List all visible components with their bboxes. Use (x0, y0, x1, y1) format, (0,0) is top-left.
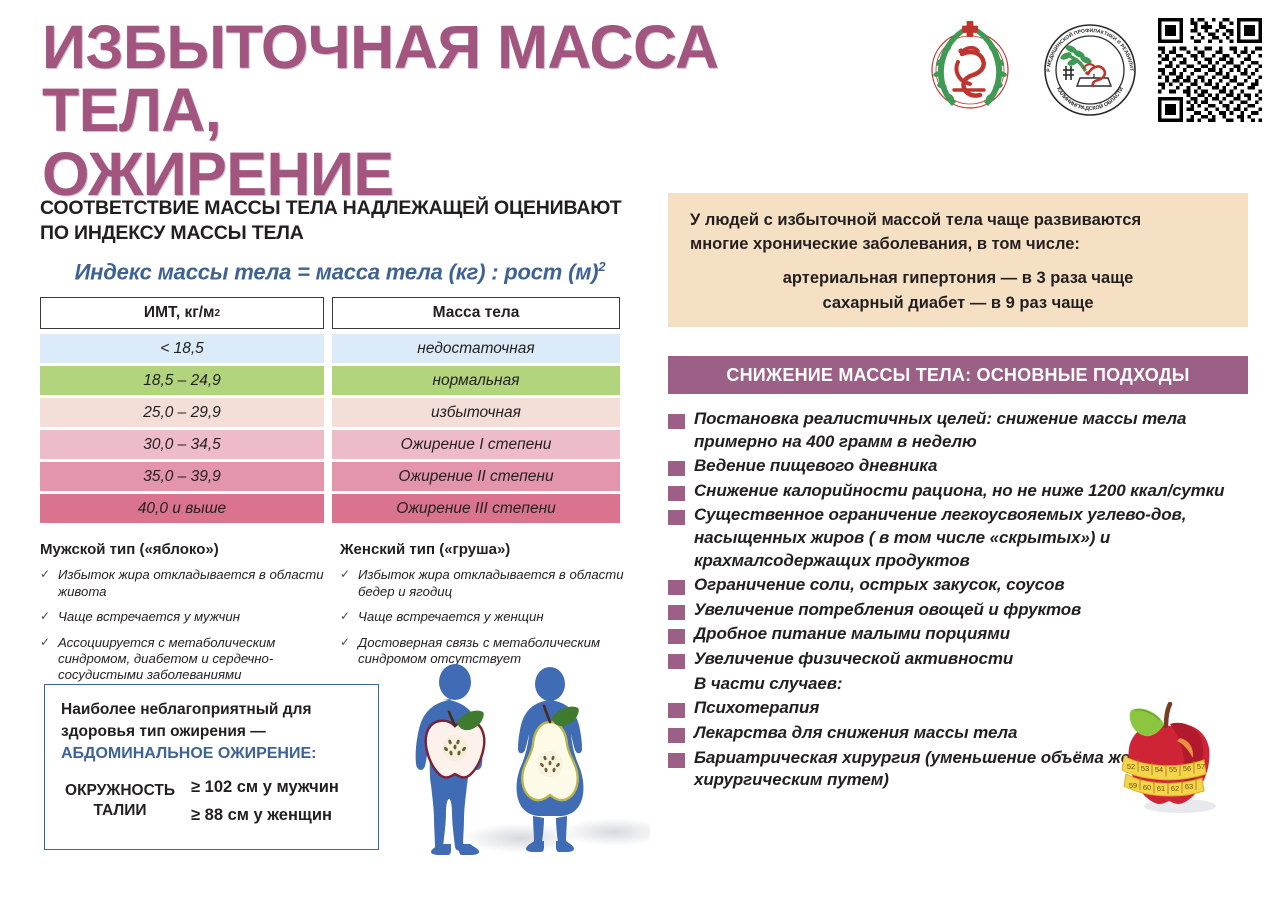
table-row: недостаточная (332, 334, 620, 363)
list-item-text: Ограничение соли, острых закусок, соусов (694, 574, 1065, 597)
square-bullet-icon (668, 605, 685, 620)
list-item: Увеличение потребления овощей и фруктов (668, 599, 1248, 622)
logo-strip: ЦЕНТР МЕДИЦИНСКОЙ ПРОФИЛАКТИКИ И РЕАБИЛИ… (918, 18, 1262, 122)
table-row: Ожирение III степени (332, 494, 620, 523)
tape-number: 62 (1171, 784, 1179, 793)
body-type-male: Мужской тип («яблоко») ✓ Избыток жира от… (40, 541, 340, 692)
tape-number: 52 (1127, 762, 1135, 771)
table-row: 18,5 – 24,9 (40, 366, 324, 395)
list-item-text: Психотерапия (694, 697, 819, 720)
bmi-section-heading: СООТВЕТСТВИЕ МАССЫ ТЕЛА НАДЛЕЖАЩЕЙ ОЦЕНИ… (40, 196, 640, 245)
square-bullet-icon (668, 654, 685, 669)
table-row: нормальная (332, 366, 620, 395)
center-medical-prevention-logo: ЦЕНТР МЕДИЦИНСКОЙ ПРОФИЛАКТИКИ И РЕАБИЛИ… (1038, 18, 1142, 122)
list-item: ✓ Избыток жира откладывается в области ж… (40, 567, 332, 600)
list-item-text: Снижение калорийности рациона, но не ниж… (694, 480, 1224, 503)
page-title: ИЗБЫТОЧНАЯ МАССА ТЕЛА, ОЖИРЕНИЕ (42, 16, 902, 206)
check-icon: ✓ (340, 609, 351, 625)
bmi-table-header-value: ИМТ, кг/м2 (40, 297, 324, 329)
list-subheading-text: В части случаев: (694, 673, 842, 696)
square-bullet-icon (668, 753, 685, 768)
bmi-table: ИМТ, кг/м2 < 18,5 18,5 – 24,9 25,0 – 29,… (40, 297, 620, 523)
list-item: ✓ Чаще встречается у мужчин (40, 609, 332, 625)
waist-value-men: ≥ 102 см у мужчин (191, 773, 339, 801)
list-item-text: Ведение пищевого дневника (694, 455, 937, 478)
body-type-female-list: ✓ Избыток жира откладывается в области б… (340, 567, 632, 667)
body-shapes-illustration (400, 660, 650, 900)
body-type-male-list: ✓ Избыток жира откладывается в области ж… (40, 567, 332, 683)
table-row: Ожирение II степени (332, 462, 620, 491)
list-item-text: Избыток жира откладывается в области жив… (58, 567, 332, 600)
list-item-text: Лекарства для снижения массы тела (694, 722, 1017, 745)
list-item-text: Ассоциируется с метаболическим синдромом… (58, 635, 332, 684)
check-icon: ✓ (40, 567, 51, 600)
list-item-text: Увеличение потребления овощей и фруктов (694, 599, 1081, 622)
bmi-formula: Индекс массы тела = масса тела (кг) : ро… (40, 259, 640, 285)
square-bullet-icon (668, 580, 685, 595)
square-bullet-icon (668, 461, 685, 476)
list-item: Снижение калорийности рациона, но не ниж… (668, 480, 1248, 503)
bmi-table-value-column: ИМТ, кг/м2 < 18,5 18,5 – 24,9 25,0 – 29,… (40, 297, 324, 523)
tape-number: 61 (1157, 784, 1165, 793)
bmi-table-label-column: Масса тела недостаточная нормальная избы… (332, 297, 620, 523)
list-item-text: Дробное питание малыми порциями (694, 623, 1010, 646)
table-row: 40,0 и выше (40, 494, 324, 523)
waist-circumference-box: Наиболее неблагоприятный для здоровья ти… (44, 684, 379, 850)
tape-number: 56 (1183, 764, 1191, 773)
tape-number: 53 (1141, 764, 1149, 773)
table-row: 30,0 – 34,5 (40, 430, 324, 459)
bmi-formula-exponent: 2 (598, 259, 605, 274)
table-row: Ожирение I степени (332, 430, 620, 459)
list-item: Ограничение соли, острых закусок, соусов (668, 574, 1248, 597)
list-item: ✓ Ассоциируется с метаболическим синдром… (40, 635, 332, 684)
waist-box-lead: Наиболее неблагоприятный для здоровья ти… (61, 699, 362, 743)
list-item-text: Постановка реалистичных целей: снижение … (694, 408, 1248, 453)
table-row: < 18,5 (40, 334, 324, 363)
square-bullet-icon (668, 510, 685, 525)
check-icon: ✓ (340, 567, 351, 600)
square-bullet-icon (668, 703, 685, 718)
risk-box-lead-line-1: У людей с избыточной массой тела чаще ра… (690, 209, 1226, 233)
tape-number: 60 (1143, 783, 1151, 792)
risk-box-lead-line-2: многие хронические заболевания, в том чи… (690, 233, 1226, 257)
list-item: артериальная гипертония — в 3 раза чаще (690, 266, 1226, 291)
tape-number: 54 (1155, 765, 1163, 774)
check-icon: ✓ (340, 635, 351, 668)
list-item-text: Существенное ограничение легкоусвояемых … (694, 504, 1248, 572)
list-item: ✓ Избыток жира откладывается в области б… (340, 567, 632, 600)
tape-number: 57 (1197, 762, 1205, 771)
list-item-text: Чаще встречается у женщин (358, 609, 544, 625)
table-row: избыточная (332, 398, 620, 427)
list-item-text: Чаще встречается у мужчин (58, 609, 240, 625)
waist-box-values-row: ОКРУЖНОСТЬ ТАЛИИ ≥ 102 см у мужчин ≥ 88 … (61, 773, 362, 829)
list-item: Существенное ограничение легкоусвояемых … (668, 504, 1248, 572)
chronic-disease-risk-box: У людей с избыточной массой тела чаще ра… (668, 193, 1248, 327)
body-type-male-title: Мужской тип («яблоко») (40, 541, 332, 558)
tape-number: 63 (1185, 782, 1193, 791)
check-icon: ✓ (40, 635, 51, 684)
check-icon: ✓ (40, 609, 51, 625)
list-item: Ведение пищевого дневника (668, 455, 1248, 478)
waist-value-women: ≥ 88 см у женщин (191, 801, 339, 829)
list-item: сахарный диабет — в 9 раз чаще (690, 291, 1226, 316)
risk-box-list: артериальная гипертония — в 3 раза чаще … (690, 266, 1226, 316)
table-row: 35,0 – 39,9 (40, 462, 324, 491)
waist-values: ≥ 102 см у мужчин ≥ 88 см у женщин (191, 773, 339, 829)
apple-with-measuring-tape-icon: 52 53 54 55 56 57 59 60 61 62 63 (1108, 702, 1226, 824)
square-bullet-icon (668, 414, 685, 429)
bmi-section: СООТВЕТСТВИЕ МАССЫ ТЕЛА НАДЛЕЖАЩЕЙ ОЦЕНИ… (40, 196, 640, 693)
tape-number: 59 (1129, 781, 1137, 790)
bmi-table-header-value-text: ИМТ, кг/м (144, 304, 215, 322)
bmi-table-header-label: Масса тела (332, 297, 620, 329)
bmi-formula-text: Индекс массы тела = масса тела (кг) : ро… (75, 259, 599, 284)
bmi-table-header-value-exponent: 2 (215, 308, 221, 319)
list-item-text: Увеличение физической активности (694, 648, 1013, 671)
list-item: Постановка реалистичных целей: снижение … (668, 408, 1248, 453)
list-subheading: В части случаев: (668, 673, 1248, 696)
list-item: Увеличение физической активности (668, 648, 1248, 671)
list-item-text: Избыток жира откладывается в области бед… (358, 567, 632, 600)
tape-number: 55 (1169, 765, 1177, 774)
waist-label: ОКРУЖНОСТЬ ТАЛИИ (61, 781, 179, 821)
ministry-of-health-kaliningrad-logo (918, 18, 1022, 122)
page-title-line-1: ИЗБЫТОЧНАЯ МАССА ТЕЛА, (42, 16, 902, 143)
body-type-female-title: Женский тип («груша») (340, 541, 632, 558)
table-row: 25,0 – 29,9 (40, 398, 324, 427)
waist-box-abdominal-label: АБДОМИНАЛЬНОЕ ОЖИРЕНИЕ: (61, 745, 362, 763)
approaches-section-header: СНИЖЕНИЕ МАССЫ ТЕЛА: ОСНОВНЫЕ ПОДХОДЫ (668, 356, 1248, 394)
qr-code[interactable] (1158, 18, 1262, 122)
list-item: ✓ Чаще встречается у женщин (340, 609, 632, 625)
square-bullet-icon (668, 486, 685, 501)
list-item: Дробное питание малыми порциями (668, 623, 1248, 646)
square-bullet-icon (668, 629, 685, 644)
square-bullet-icon (668, 728, 685, 743)
